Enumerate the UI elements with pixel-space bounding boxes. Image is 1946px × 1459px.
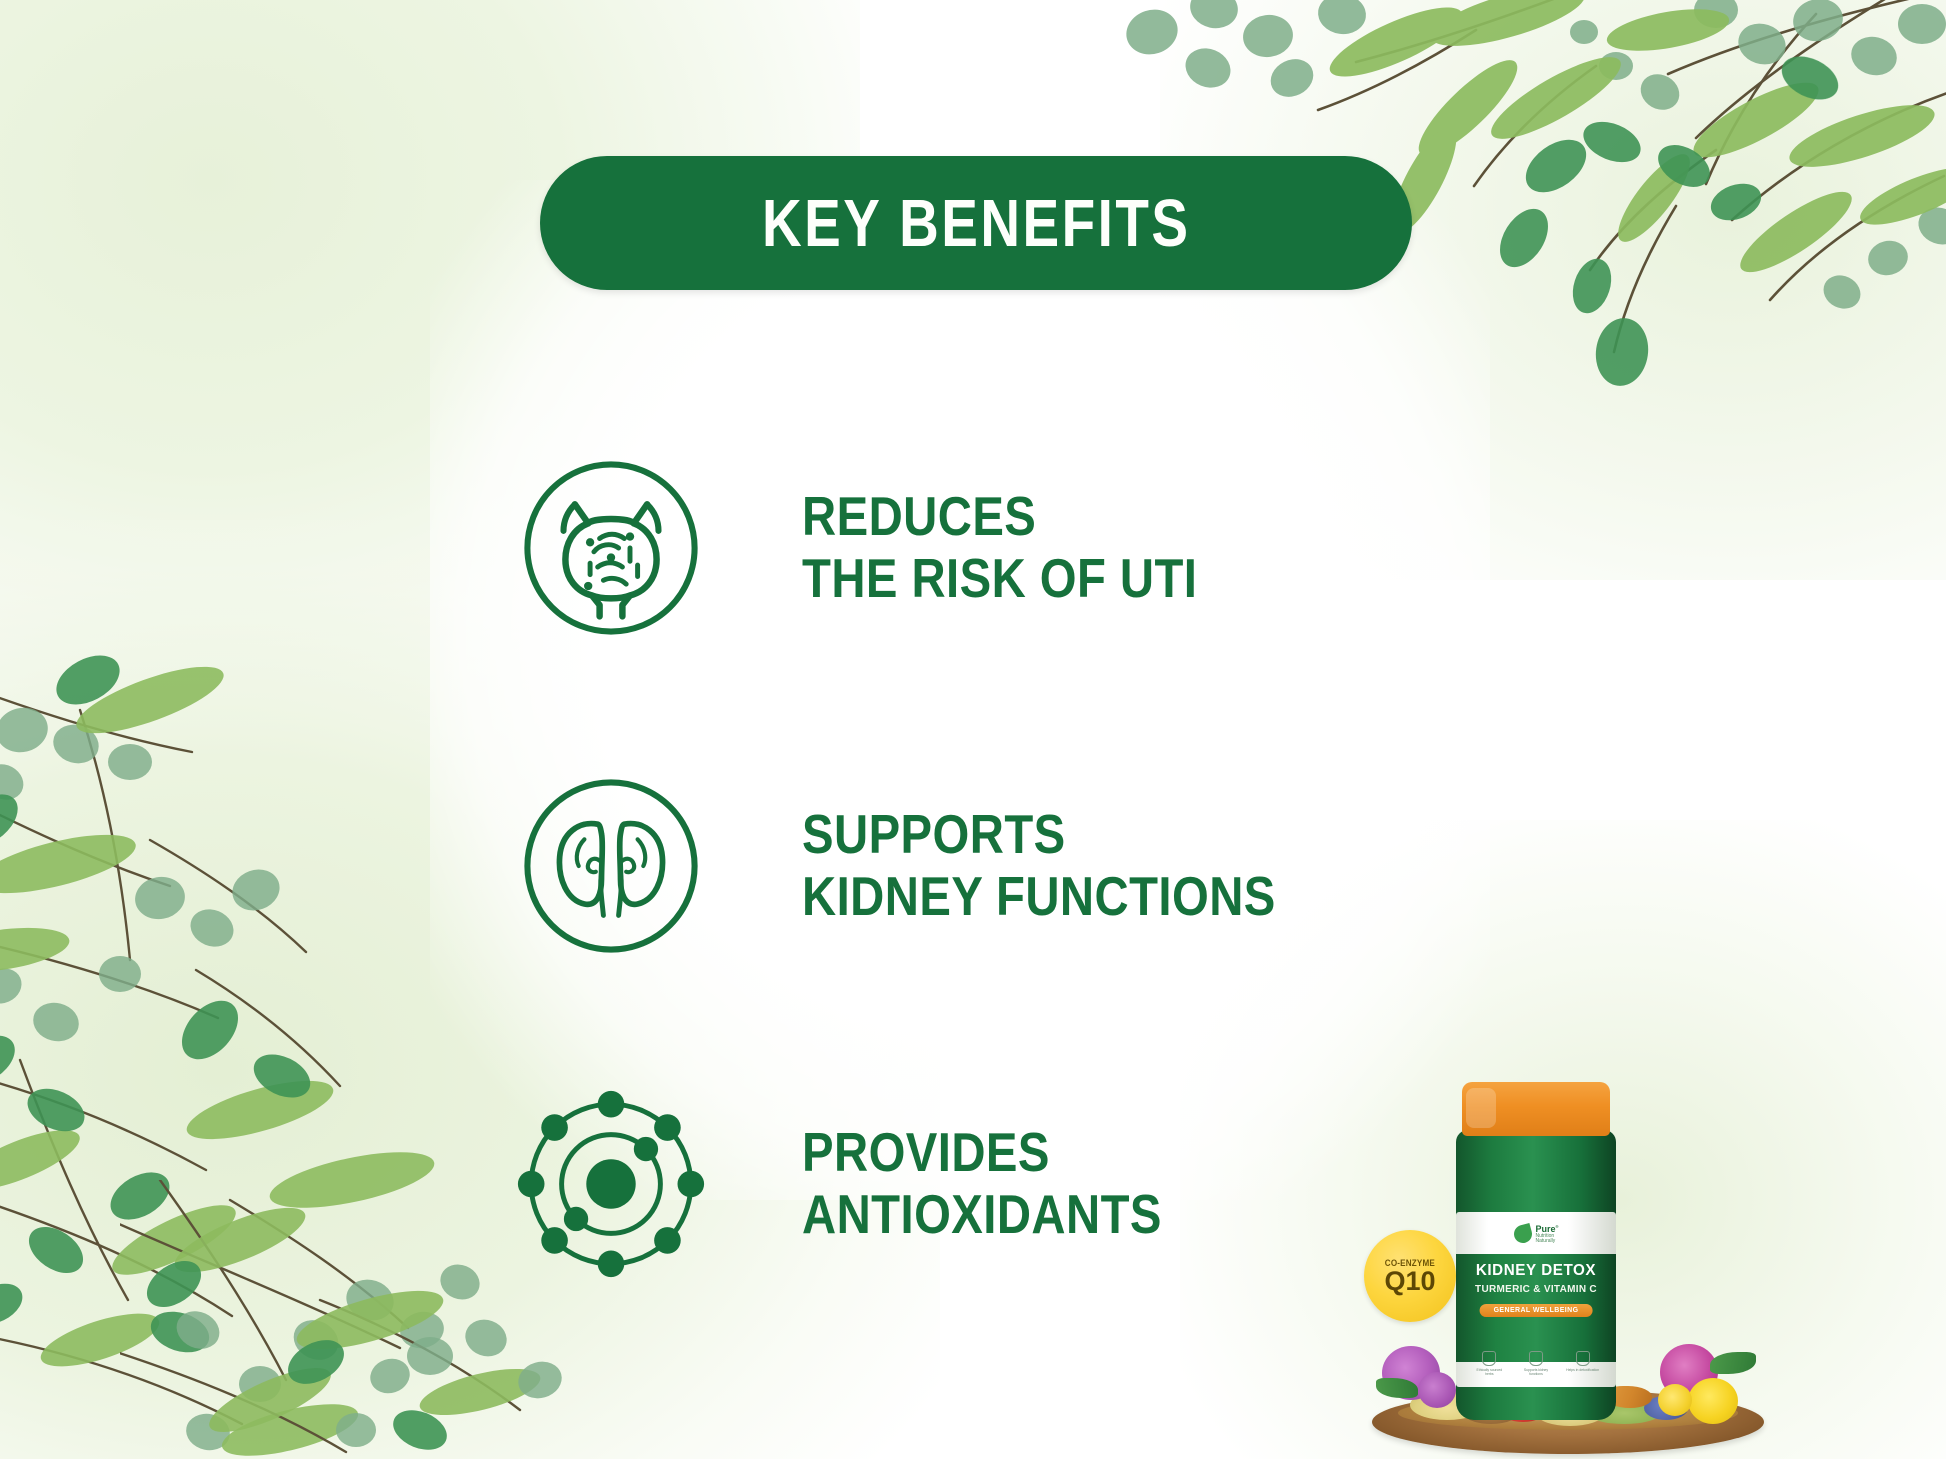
foliage-left <box>0 640 580 1459</box>
leaf-sprig-right <box>1710 1352 1756 1374</box>
wellbeing-badge: GENERAL WELLBEING <box>1480 1304 1593 1317</box>
benefit-line1: SUPPORTS <box>802 803 1066 865</box>
product-subtitle: TURMERIC & VITAMIN C <box>1456 1284 1616 1295</box>
benefit-label-uti: REDUCES THE RISK OF UTI <box>802 486 1197 609</box>
flower-yellow-small <box>1658 1384 1692 1416</box>
benefit-line2: KIDNEY FUNCTIONS <box>802 866 1276 928</box>
feature-icon-1: Ethically sourced herbs <box>1472 1351 1506 1377</box>
bottle-label: Pure® Nutrition Naturally KIDNEY DETOX T… <box>1456 1212 1616 1387</box>
q10-value: Q10 <box>1384 1268 1435 1295</box>
coenzyme-q10-badge: CO-ENZYME Q10 <box>1364 1230 1456 1322</box>
brand-sub2: Naturally <box>1536 1239 1559 1244</box>
flower-purple-left-small <box>1418 1372 1456 1408</box>
trademark-symbol: ® <box>1556 1224 1559 1229</box>
feature-caption: Supports kidney functions <box>1519 1368 1553 1377</box>
brand-text: Pure® Nutrition Naturally <box>1536 1225 1559 1244</box>
benefit-item-kidney: SUPPORTS KIDNEY FUNCTIONS <box>516 758 1596 973</box>
benefit-line2: ANTIOXIDANTS <box>802 1184 1162 1246</box>
atom-antioxidant-icon <box>516 1089 706 1279</box>
benefit-line2: THE RISK OF UTI <box>802 548 1197 610</box>
brand-name: Pure <box>1536 1224 1556 1234</box>
key-benefits-header-pill: KEY BENEFITS <box>540 156 1412 290</box>
label-feature-icons: Ethically sourced herbs Supports kidney … <box>1456 1351 1616 1383</box>
benefit-line1: PROVIDES <box>802 1121 1050 1183</box>
brand-lockup: Pure® Nutrition Naturally <box>1456 1216 1616 1252</box>
kidneys-icon <box>516 771 706 961</box>
shield-icon <box>1482 1351 1496 1366</box>
feature-caption: Helps in detoxification <box>1566 1368 1600 1372</box>
product-name: KIDNEY DETOX <box>1460 1262 1612 1280</box>
key-benefits-infographic: KEY BENEFITS <box>0 0 1946 1459</box>
feature-icon-2: Supports kidney functions <box>1519 1351 1553 1377</box>
q10-caption: CO-ENZYME <box>1385 1258 1435 1268</box>
bottle-cap <box>1462 1082 1610 1136</box>
leaf-logo-icon <box>1511 1223 1533 1245</box>
page-title: KEY BENEFITS <box>762 185 1190 262</box>
flower-yellow-right <box>1688 1378 1738 1424</box>
benefit-label-kidney: SUPPORTS KIDNEY FUNCTIONS <box>802 804 1276 927</box>
benefit-label-antioxidants: PROVIDES ANTIOXIDANTS <box>802 1122 1162 1245</box>
benefit-line1: REDUCES <box>802 485 1036 547</box>
feature-icon-3: Helps in detoxification <box>1566 1351 1600 1372</box>
bladder-icon <box>516 453 706 643</box>
shield-icon <box>1576 1351 1590 1366</box>
benefit-item-uti: REDUCES THE RISK OF UTI <box>516 440 1596 655</box>
product-shot: Pure® Nutrition Naturally KIDNEY DETOX T… <box>1358 1060 1778 1459</box>
feature-caption: Ethically sourced herbs <box>1472 1368 1506 1377</box>
shield-icon <box>1529 1351 1543 1366</box>
